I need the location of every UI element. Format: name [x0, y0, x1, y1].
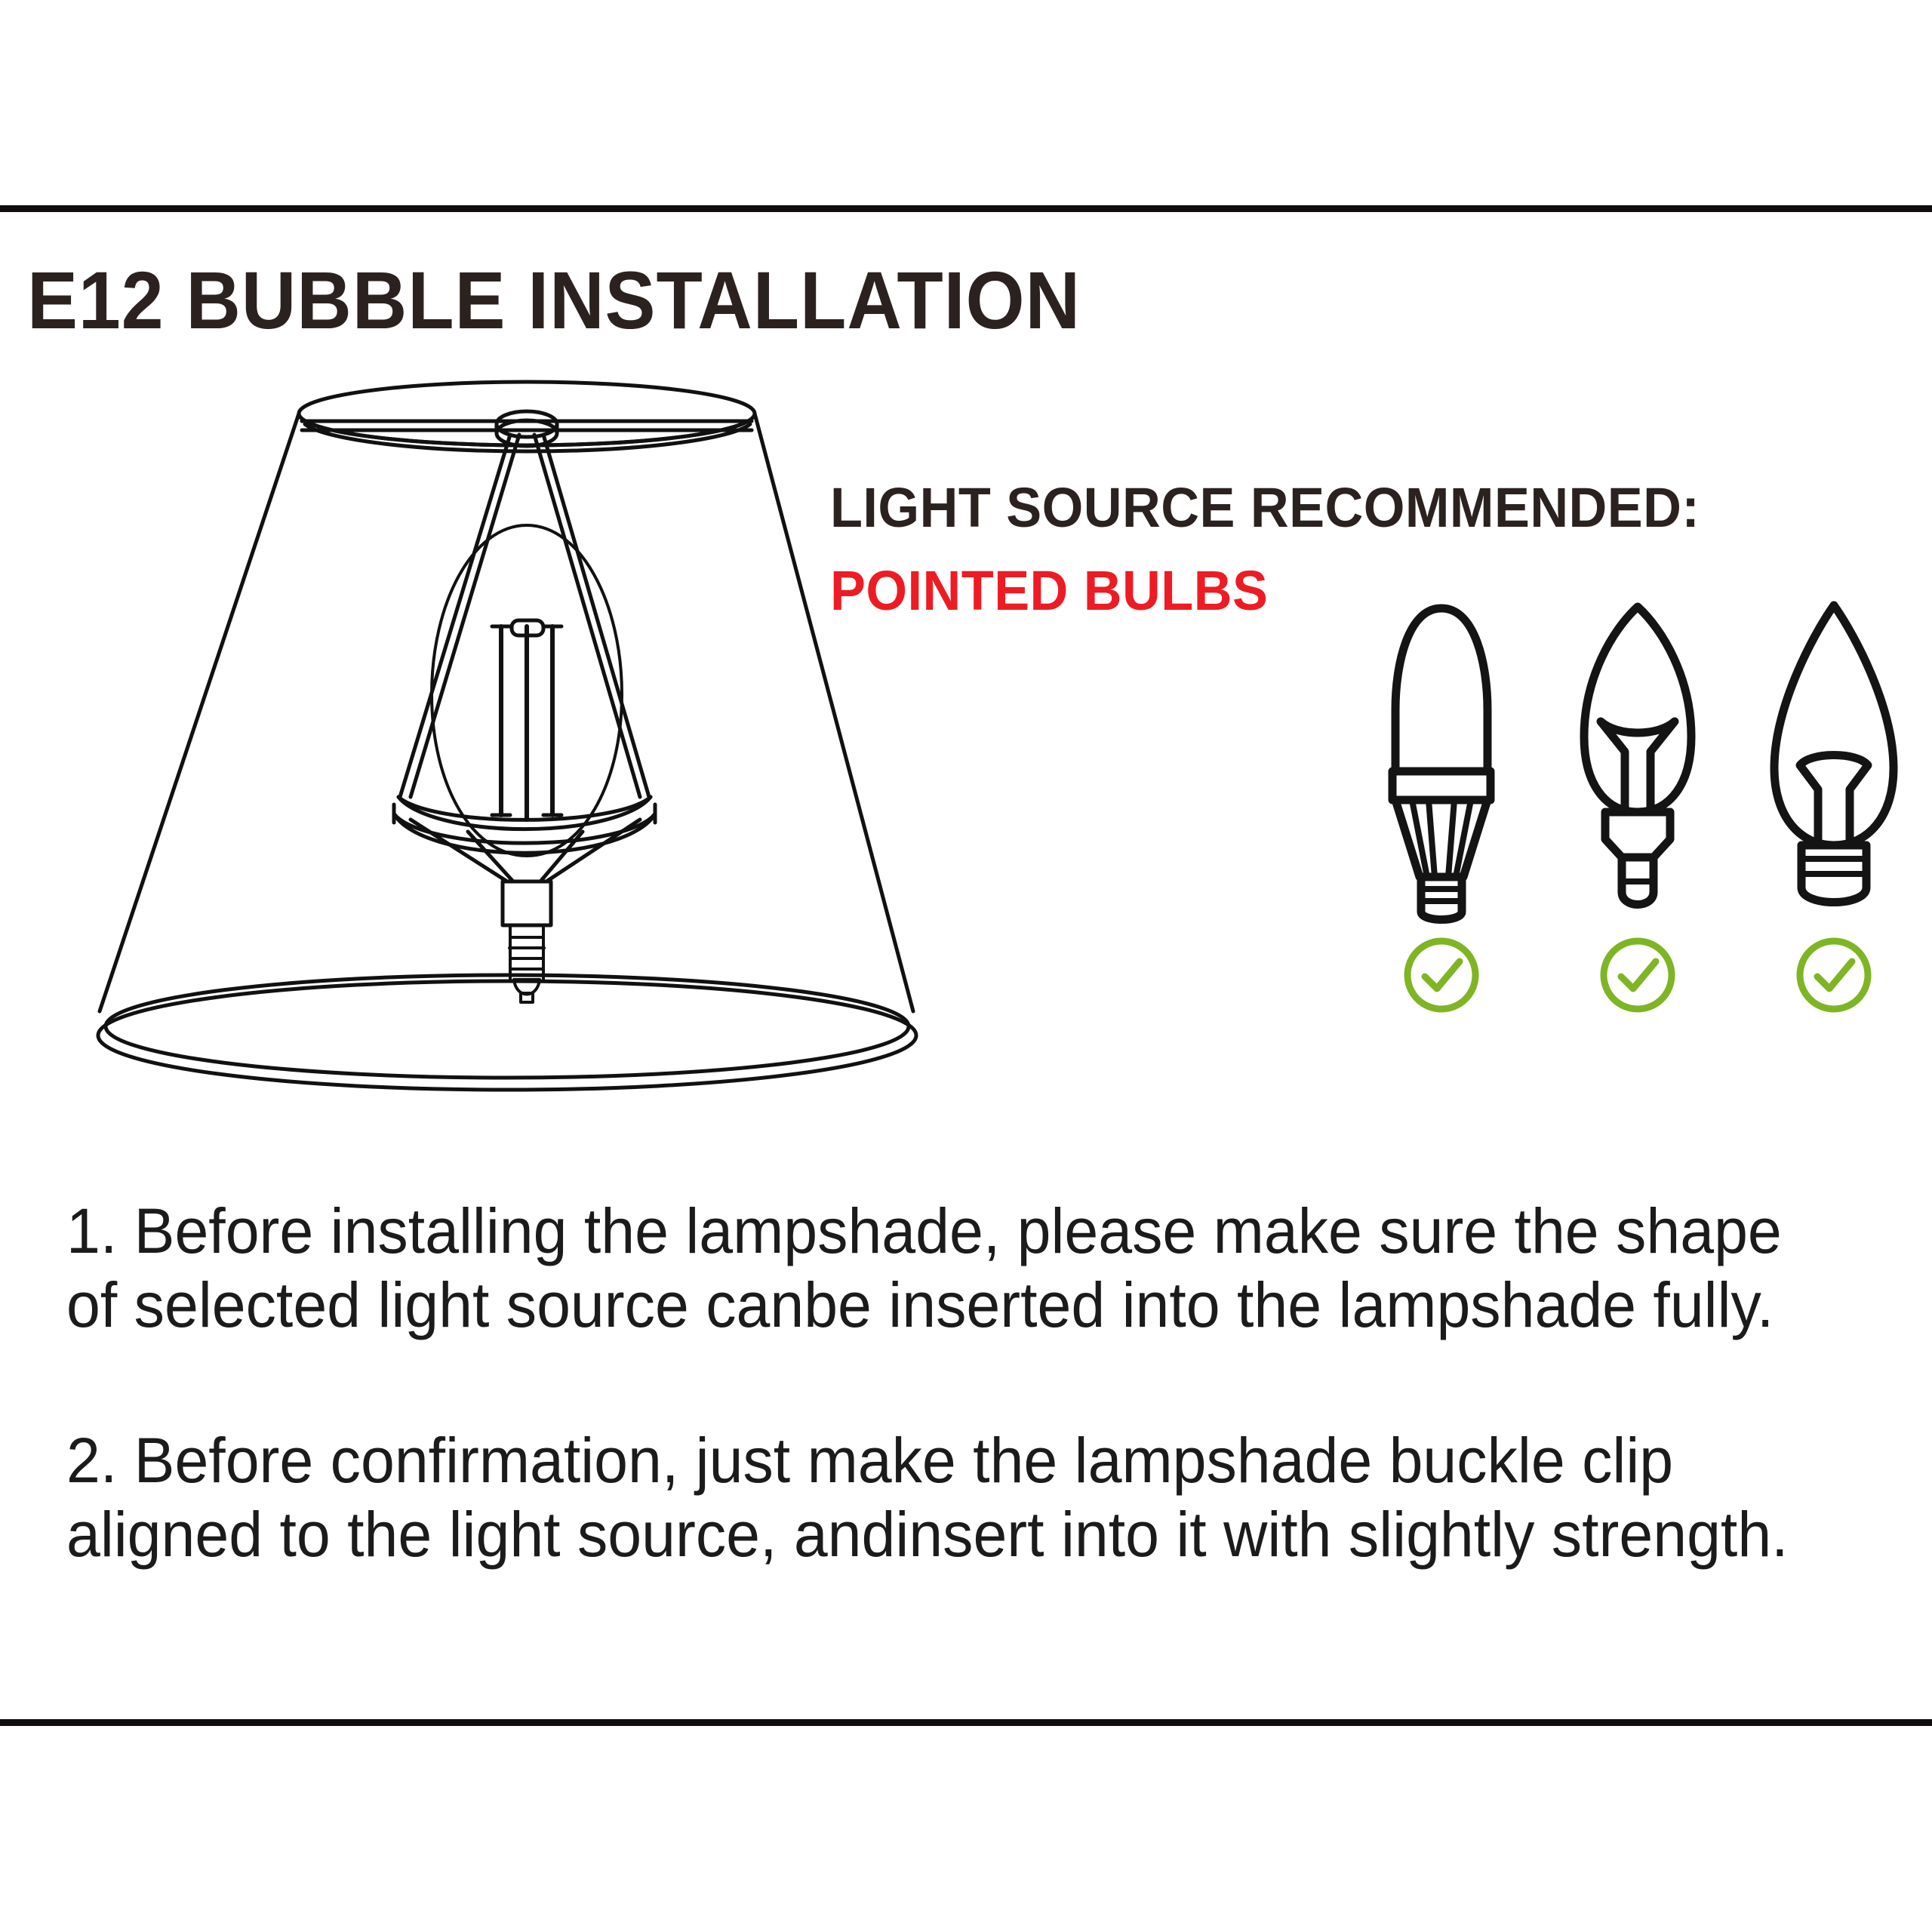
bulb-option-flame-tip [1751, 596, 1917, 1016]
led-bulb-collar [1392, 771, 1491, 800]
heatsink-fin-2 [1429, 800, 1435, 877]
bulb-option-led-candle [1358, 596, 1524, 1016]
check-glyph [1817, 961, 1852, 989]
led-candle-bulb-icon [1362, 596, 1521, 928]
clip-wire-right-outer [543, 435, 649, 797]
candle-base-shoulder [1605, 812, 1670, 857]
light-source-recommended-label: LIGHT SOURCE RECOMMENDED: [830, 475, 1856, 540]
check-circle-outline [1800, 941, 1868, 1009]
candle-bulb-envelope [1584, 607, 1691, 812]
base-collar [503, 881, 551, 925]
base-contact [521, 993, 533, 1002]
check-glyph [1425, 961, 1460, 989]
top-divider-rule [0, 205, 1932, 212]
candle-filament [1601, 721, 1675, 812]
clip-strut-right-2 [540, 832, 583, 881]
instructions-list: 1. Before installing the lampshade, plea… [66, 1131, 1878, 1635]
check-circle-outline [1604, 941, 1672, 1009]
flame-bulb-envelope [1774, 605, 1894, 845]
heatsink-fin-3 [1448, 800, 1454, 877]
lampshade-illustration [45, 377, 966, 1094]
check-circle-icon [1793, 934, 1875, 1016]
check-circle-icon [1401, 934, 1482, 1016]
led-bulb-envelope [1395, 608, 1487, 771]
check-circle-outline [1407, 941, 1475, 1009]
approved-bulbs-row [1358, 596, 1917, 1064]
instruction-step-2: 2. Before confirmation, just make the la… [66, 1423, 1805, 1571]
candle-incandescent-bulb-icon [1558, 596, 1717, 928]
clip-wire-left-outer [400, 435, 510, 797]
bottom-rim-inner [106, 975, 909, 1078]
shade-left-wall [100, 414, 299, 1011]
instruction-card: E12 BUBBLE INSTALLATION [0, 0, 1932, 1932]
flame-tip-bulb-icon [1755, 596, 1913, 928]
flame-filament [1800, 755, 1868, 846]
page-title: E12 BUBBLE INSTALLATION [27, 255, 1220, 346]
bulb-option-candle-incandescent [1555, 596, 1721, 1016]
check-circle-icon [1597, 934, 1678, 1016]
clip-strut-left-2 [468, 832, 513, 881]
check-glyph [1621, 961, 1656, 989]
instruction-step-1: 1. Before installing the lampshade, plea… [66, 1194, 1805, 1342]
led-heatsink-outline [1395, 800, 1487, 877]
bottom-rim-outer [98, 981, 916, 1090]
bottom-divider-rule [0, 1719, 1932, 1726]
